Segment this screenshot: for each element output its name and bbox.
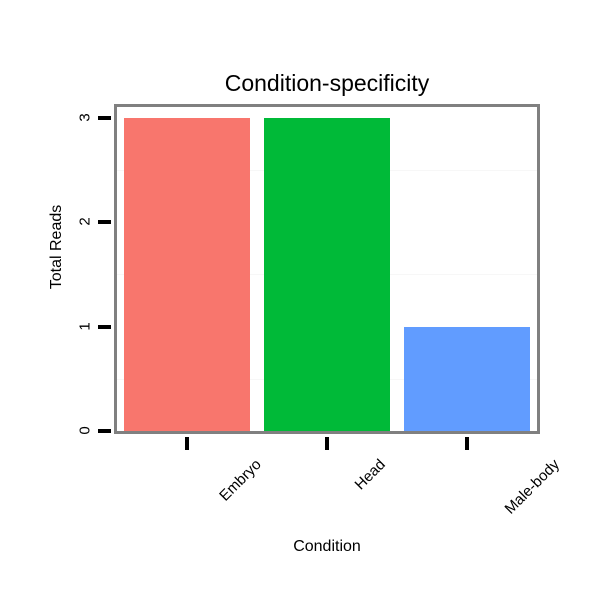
y-axis-title: Total Reads (48, 187, 66, 307)
x-tick-mark (185, 437, 189, 450)
chart-title: Condition-specificity (114, 70, 540, 97)
y-tick-mark (98, 429, 111, 433)
y-tick-mark (98, 220, 111, 224)
x-axis-title: Condition (114, 538, 540, 556)
x-tick-mark (325, 437, 329, 450)
x-tick-mark (465, 437, 469, 450)
y-tick-label: 0 (77, 418, 94, 444)
y-tick-label: 2 (77, 209, 94, 235)
bar-embryo[interactable] (124, 118, 250, 432)
x-tick-label: Embryo (216, 456, 265, 505)
y-tick-label: 3 (77, 104, 94, 130)
x-tick-label: Male-body (502, 456, 564, 518)
plot-area (117, 107, 537, 431)
bar-male-body[interactable] (404, 327, 530, 432)
y-tick-mark (98, 116, 111, 120)
y-tick-mark (98, 325, 111, 329)
bar-chart: Condition-specificity 0123 Total Reads E… (0, 0, 600, 600)
plot-panel (114, 104, 540, 434)
x-tick-label: Head (352, 456, 389, 493)
bar-head[interactable] (264, 118, 390, 432)
y-tick-label: 1 (77, 313, 94, 339)
